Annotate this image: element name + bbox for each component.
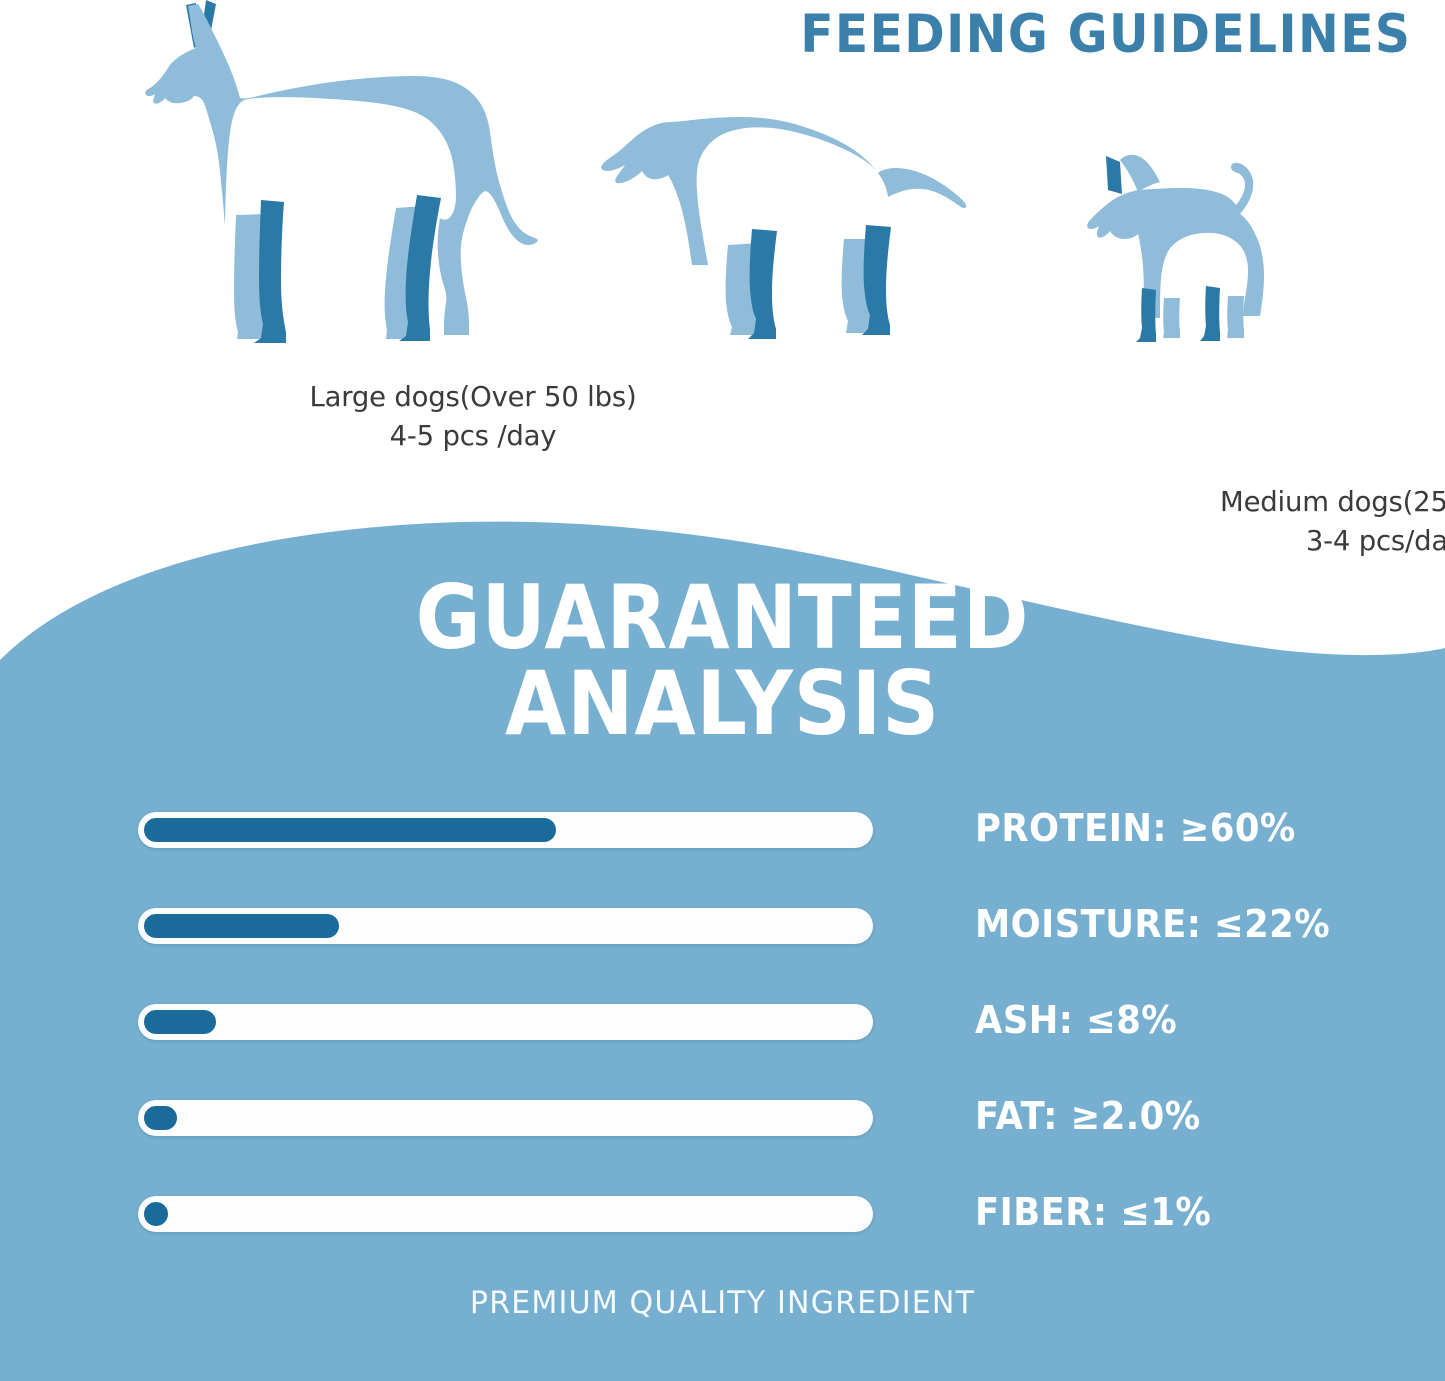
nutrient-bar-track-moisture [138,908,873,944]
infographic-page: FEEDING GUIDELINES [0,0,1445,1381]
guaranteed-analysis-title: GUARANTEED ANALYSIS [0,575,1445,747]
nutrient-bar-fill-moisture [144,914,339,938]
nutrient-label-fat: FAT: ≥2.0% [975,1094,1201,1138]
nutrient-label-ash: ASH: ≤8% [975,998,1177,1042]
nutrient-row-fat: FAT: ≥2.0% [0,1088,1445,1184]
analysis-title-line2: ANALYSIS [72,661,1373,747]
dog-size-guide: Large dogs(Over 50 lbs) 4-5 pcs /day Med… [0,0,1445,470]
chihuahua-silhouette-icon [1068,148,1286,345]
dog-card-medium: Medium dogs(25-50 lbs) 3-4 pcs/day [600,105,968,345]
dog-size-label-large: Large dogs(Over 50 lbs) [309,381,636,413]
guaranteed-analysis-panel: GUARANTEED ANALYSIS PROTEIN: ≥60% MOISTU… [0,480,1445,1381]
great-dane-silhouette-icon [128,0,553,345]
analysis-title-line1: GUARANTEED [72,575,1373,661]
nutrient-row-fiber: FIBER: ≤1% [0,1184,1445,1280]
nutrient-row-moisture: MOISTURE: ≤22% [0,896,1445,992]
nutrient-label-fiber: FIBER: ≤1% [975,1190,1211,1234]
nutrient-label-protein: PROTEIN: ≥60% [975,806,1296,850]
nutrient-label-moisture: MOISTURE: ≤22% [975,902,1330,946]
premium-quality-footer: PREMIUM QUALITY INGREDIENT [22,1285,1424,1321]
nutrient-bar-fill-fat [144,1106,177,1130]
nutrient-row-ash: ASH: ≤8% [0,992,1445,1088]
dog-caption-large: Large dogs(Over 50 lbs) 4-5 pcs /day [233,378,713,456]
labrador-silhouette-icon [600,105,968,345]
nutrient-bar-fill-ash [144,1010,216,1034]
nutrient-bar-track-ash [138,1004,873,1040]
nutrient-bar-track-protein [138,812,873,848]
dog-amount-label-large: 4-5 pcs /day [233,417,713,456]
nutrient-bar-fill-fiber [144,1202,168,1226]
dog-card-large: Large dogs(Over 50 lbs) 4-5 pcs /day [128,0,553,345]
nutrient-bar-fill-protein [144,818,556,842]
nutrient-row-protein: PROTEIN: ≥60% [0,800,1445,896]
nutrient-bar-list: PROTEIN: ≥60% MOISTURE: ≤22% ASH: ≤8% FA… [0,800,1445,1280]
nutrient-bar-track-fat [138,1100,873,1136]
dog-card-small: small dogs(4-25 lbs) 1-2 pcs/day [1068,148,1286,345]
nutrient-bar-track-fiber [138,1196,873,1232]
